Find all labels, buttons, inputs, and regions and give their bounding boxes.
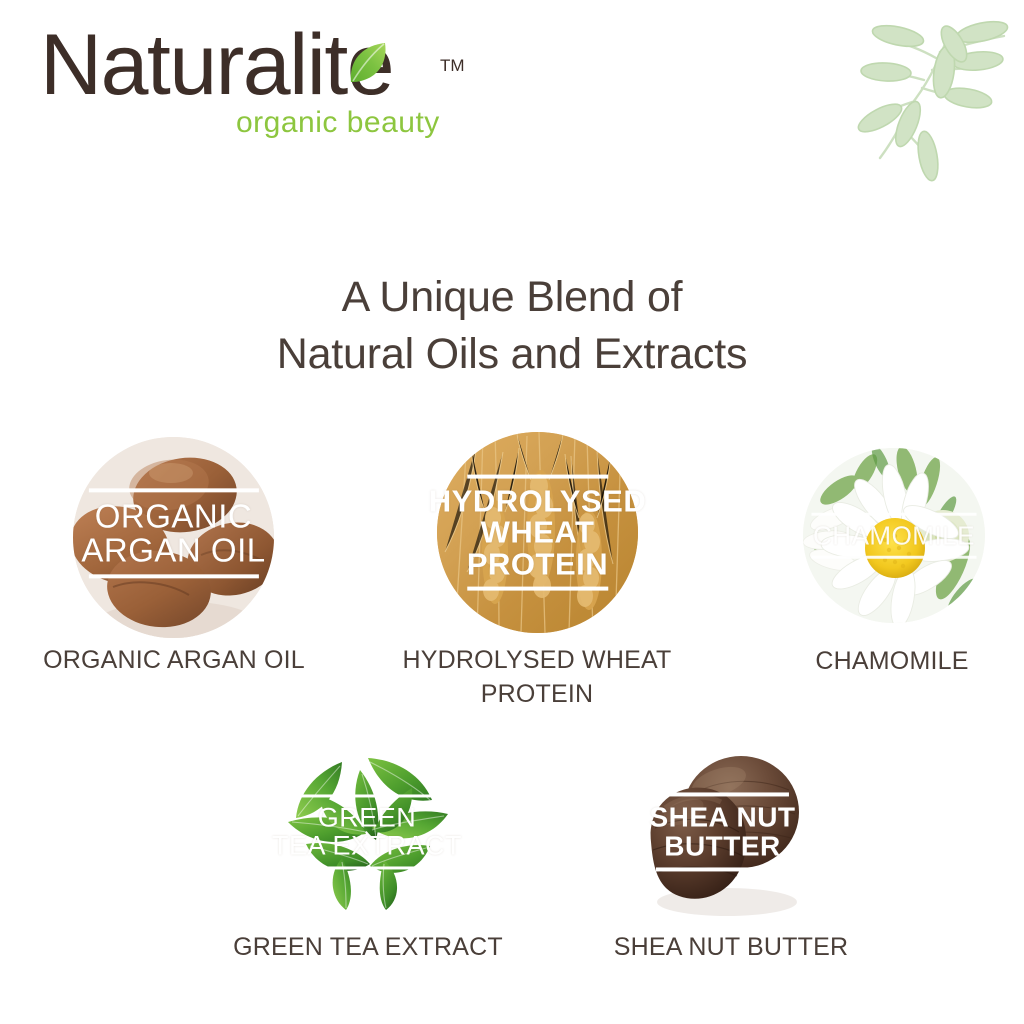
ingredient-caption-greentea: GREEN TEA EXTRACT — [203, 931, 533, 965]
ingredient-caption-argan: ORGANIC ARGAN OIL — [0, 644, 348, 678]
headline-line-2: Natural Oils and Extracts — [0, 326, 1024, 383]
leaf-icon — [345, 40, 391, 86]
ingredient-image-wheat: HYDROLYSED WHEAT PROTEIN — [437, 432, 638, 633]
ingredient-infographic-page: Naturalite TM organic beauty — [0, 0, 1024, 1024]
wheat-ears-photo — [437, 432, 638, 633]
headline-line-1: A Unique Blend of — [0, 269, 1024, 326]
ingredient-caption-wheat: HYDROLYSED WHEAT PROTEIN — [362, 644, 712, 712]
chamomile-flower-photo — [803, 448, 985, 623]
ingredient-image-argan: ORGANIC ARGAN OIL — [73, 437, 274, 638]
trademark-symbol: TM — [440, 56, 465, 76]
brand-wordmark: Naturalite — [40, 22, 393, 108]
green-tea-leaves-photo — [272, 752, 462, 912]
page-title: A Unique Blend of Natural Oils and Extra… — [0, 269, 1024, 383]
ingredient-caption-chamomile: CHAMOMILE — [760, 645, 1024, 679]
ingredient-image-shea: SHEA NUT BUTTER — [635, 746, 810, 918]
ingredient-image-greentea: GREEN TEA EXTRACT — [272, 752, 462, 912]
botanical-branch-icon — [836, 6, 1016, 191]
brand-tagline: organic beauty — [236, 106, 440, 140]
ingredient-caption-shea: SHEA NUT BUTTER — [566, 931, 896, 965]
argan-nuts-photo — [73, 437, 274, 638]
ingredient-image-chamomile: CHAMOMILE — [803, 448, 985, 623]
shea-nuts-photo — [635, 746, 810, 918]
brand-logo: Naturalite TM organic beauty — [40, 22, 460, 142]
